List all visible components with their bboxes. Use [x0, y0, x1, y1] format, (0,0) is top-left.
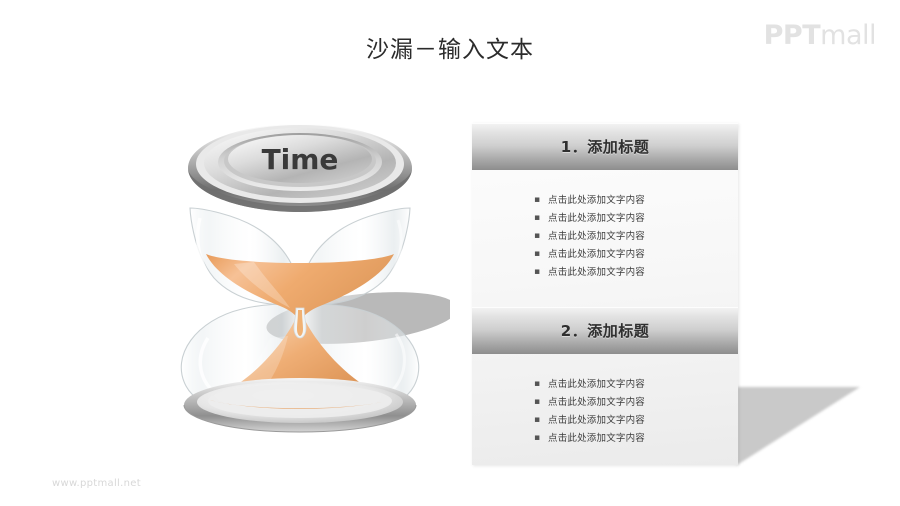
- bullet-text: 点击此处添加文字内容: [548, 414, 645, 427]
- block-2-bullet-list: ▪ 点击此处添加文字内容 ▪ 点击此处添加文字内容 ▪ 点击此处添加文字内容 ▪…: [472, 354, 738, 445]
- bullet-marker-icon: ▪: [534, 248, 548, 261]
- list-item[interactable]: ▪ 点击此处添加文字内容: [472, 230, 738, 243]
- hourglass-cap: Time: [188, 124, 412, 212]
- list-item[interactable]: ▪ 点击此处添加文字内容: [472, 378, 738, 391]
- list-item[interactable]: ▪ 点击此处添加文字内容: [472, 212, 738, 225]
- list-item[interactable]: ▪ 点击此处添加文字内容: [472, 396, 738, 409]
- hourglass-illustration: Time: [150, 112, 450, 452]
- bullet-text: 点击此处添加文字内容: [548, 378, 645, 391]
- hourglass-neck: [294, 308, 306, 338]
- panel-drop-shadow: [737, 387, 860, 465]
- block-2-header-text: 2．添加标题: [561, 320, 649, 341]
- bullet-text: 点击此处添加文字内容: [548, 432, 645, 445]
- bullet-text: 点击此处添加文字内容: [548, 194, 645, 207]
- bullet-text: 点击此处添加文字内容: [548, 230, 645, 243]
- content-block-2: 2．添加标题 ▪ 点击此处添加文字内容 ▪ 点击此处添加文字内容 ▪ 点击此处添…: [472, 307, 738, 450]
- slide-canvas: 沙漏－输入文本 PPTmall: [0, 0, 900, 506]
- block-1-header[interactable]: 1．添加标题: [472, 123, 738, 170]
- logo-text-mall: mall: [820, 20, 876, 51]
- list-item[interactable]: ▪ 点击此处添加文字内容: [472, 194, 738, 207]
- list-item[interactable]: ▪ 点击此处添加文字内容: [472, 266, 738, 279]
- footer-url: www.pptmall.net: [52, 478, 141, 489]
- logo-text-ppt: PPT: [764, 20, 821, 51]
- list-item[interactable]: ▪ 点击此处添加文字内容: [472, 432, 738, 445]
- list-item[interactable]: ▪ 点击此处添加文字内容: [472, 414, 738, 427]
- block-1-bullet-list: ▪ 点击此处添加文字内容 ▪ 点击此处添加文字内容 ▪ 点击此处添加文字内容 ▪…: [472, 170, 738, 279]
- content-panel: 1．添加标题 ▪ 点击此处添加文字内容 ▪ 点击此处添加文字内容 ▪ 点击此处添…: [472, 123, 738, 465]
- cap-label-time: Time: [262, 143, 339, 176]
- bullet-marker-icon: ▪: [534, 194, 548, 207]
- bullet-text: 点击此处添加文字内容: [548, 396, 645, 409]
- bullet-text: 点击此处添加文字内容: [548, 212, 645, 225]
- bullet-text: 点击此处添加文字内容: [548, 266, 645, 279]
- bullet-text: 点击此处添加文字内容: [548, 248, 645, 261]
- block-1-header-text: 1．添加标题: [561, 136, 649, 157]
- block-2-header[interactable]: 2．添加标题: [472, 307, 738, 354]
- bullet-marker-icon: ▪: [534, 414, 548, 427]
- content-block-1: 1．添加标题 ▪ 点击此处添加文字内容 ▪ 点击此处添加文字内容 ▪ 点击此处添…: [472, 123, 738, 284]
- pptmall-logo: PPTmall: [764, 22, 876, 49]
- list-item[interactable]: ▪ 点击此处添加文字内容: [472, 248, 738, 261]
- bullet-marker-icon: ▪: [534, 230, 548, 243]
- bullet-marker-icon: ▪: [534, 432, 548, 445]
- hourglass-base: [184, 378, 416, 432]
- bullet-marker-icon: ▪: [534, 396, 548, 409]
- bullet-marker-icon: ▪: [534, 378, 548, 391]
- bullet-marker-icon: ▪: [534, 212, 548, 225]
- bullet-marker-icon: ▪: [534, 266, 548, 279]
